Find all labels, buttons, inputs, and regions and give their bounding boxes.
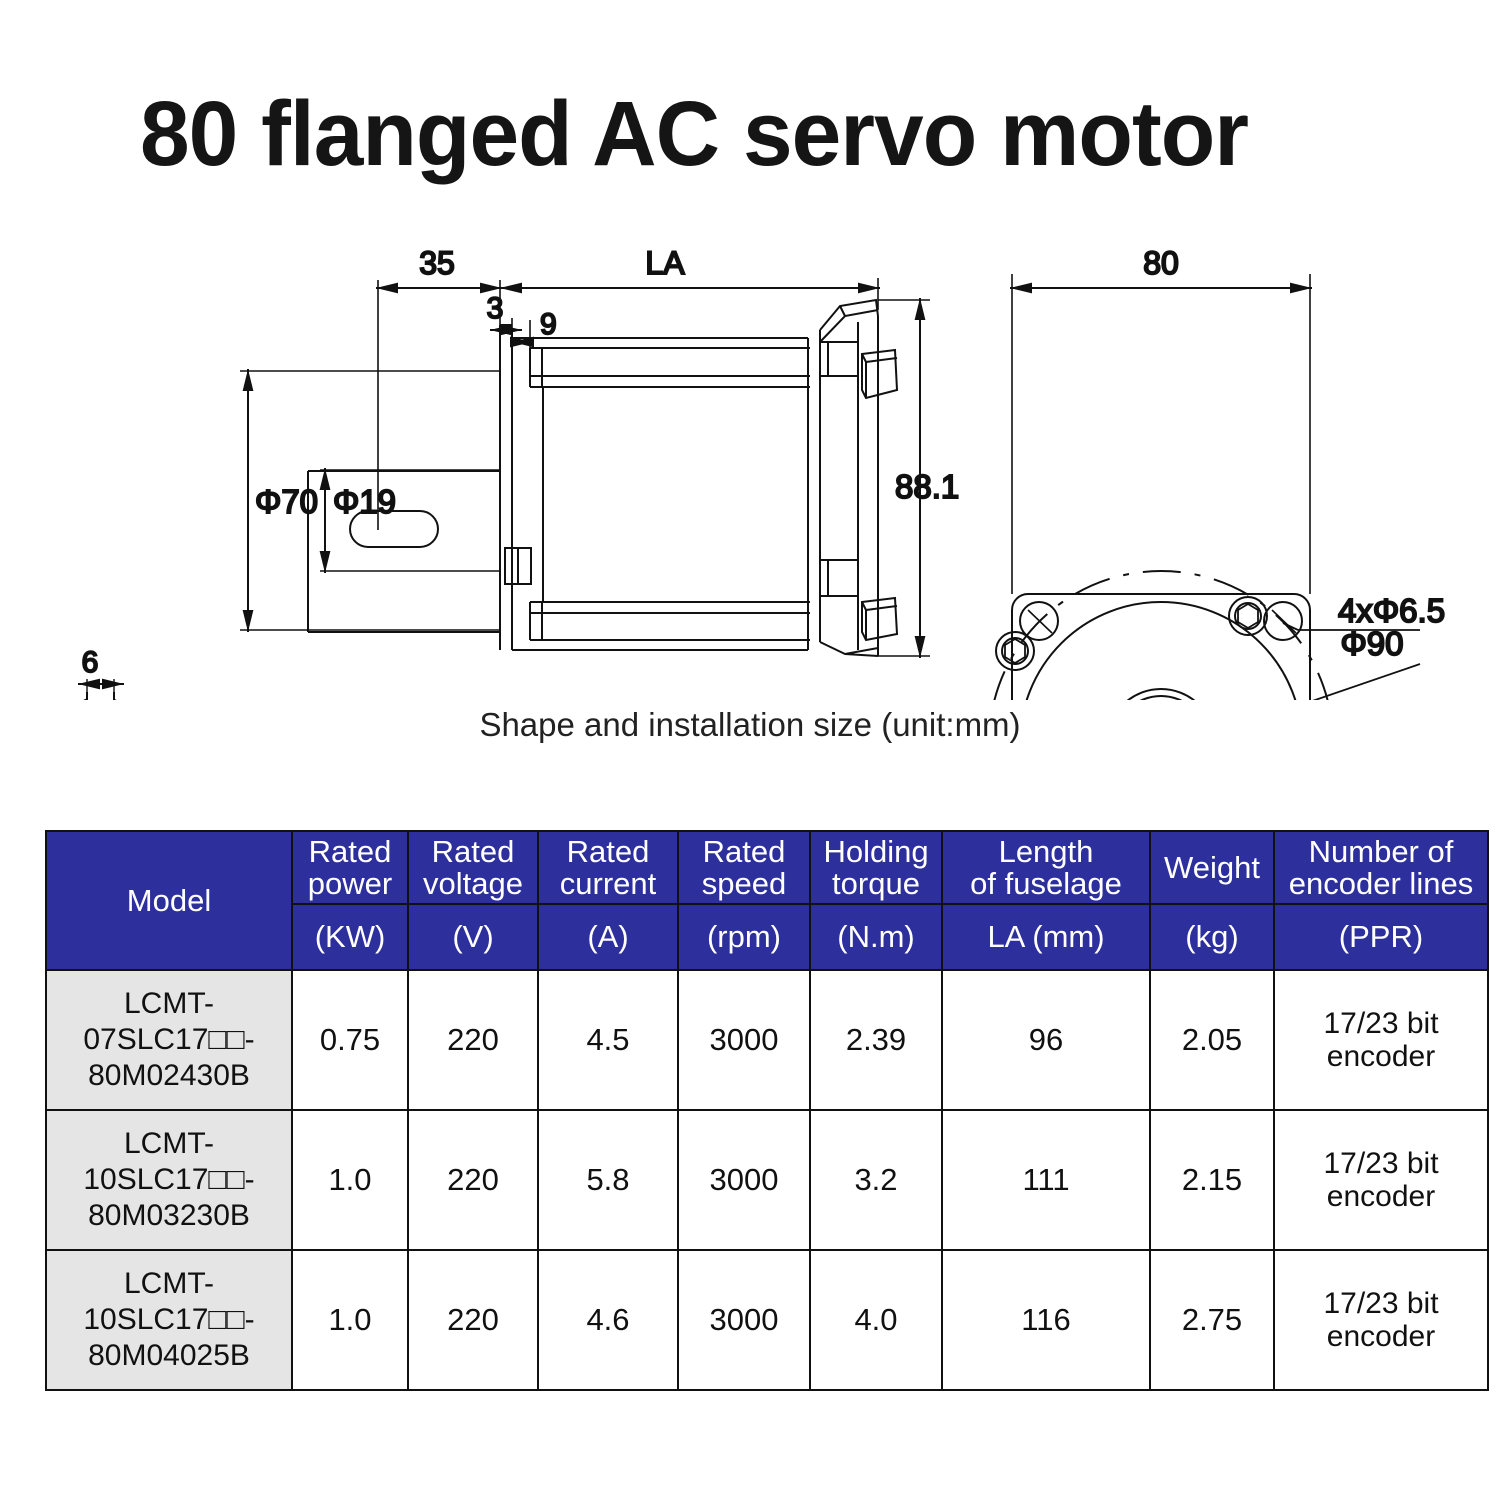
unit-rated-power: (KW): [292, 904, 408, 970]
model-line-1: LCMT-: [53, 986, 285, 1022]
header-line-1: Rated: [541, 836, 675, 868]
model-line-2: 10SLC17□□-: [53, 1302, 285, 1338]
model-line-3: 80M04025B: [53, 1338, 285, 1374]
cell-length-la: 111: [942, 1110, 1150, 1250]
cell-model: LCMT- 10SLC17□□- 80M03230B: [46, 1110, 292, 1250]
cell-rated-speed: 3000: [678, 1250, 810, 1390]
cell-rated-current: 4.5: [538, 970, 678, 1110]
header-line-1: Number of: [1277, 836, 1485, 868]
table-row: LCMT- 10SLC17□□- 80M04025B 1.0 220 4.6 3…: [46, 1250, 1488, 1390]
encoder-line-1: 17/23 bit: [1275, 1007, 1487, 1041]
model-line-1: LCMT-: [53, 1126, 285, 1162]
dim-label-la: LA: [645, 245, 685, 281]
column-header-holding-torque: Holding torque: [810, 831, 942, 904]
encoder-line-2: encoder: [1275, 1320, 1487, 1354]
cell-rated-voltage: 220: [408, 970, 538, 1110]
column-header-rated-power: Rated power: [292, 831, 408, 904]
dim-label-9: 9: [540, 308, 557, 341]
column-header-encoder-lines: Number of encoder lines: [1274, 831, 1488, 904]
model-line-3: 80M03230B: [53, 1198, 285, 1234]
model-line-1: LCMT-: [53, 1266, 285, 1302]
cell-length-la: 96: [942, 970, 1150, 1110]
unit-weight: (kg): [1150, 904, 1274, 970]
header-line-2: power: [295, 868, 405, 900]
model-line-2: 07SLC17□□-: [53, 1022, 285, 1058]
table-row: LCMT- 07SLC17□□- 80M02430B 0.75 220 4.5 …: [46, 970, 1488, 1110]
unit-rated-speed: (rpm): [678, 904, 810, 970]
encoder-line-1: 17/23 bit: [1275, 1287, 1487, 1321]
cell-rated-speed: 3000: [678, 1110, 810, 1250]
cell-weight: 2.75: [1150, 1250, 1274, 1390]
header-line-1: Holding: [813, 836, 939, 868]
dim-label-80: 80: [1143, 245, 1179, 281]
encoder-line-2: encoder: [1275, 1180, 1487, 1214]
header-line-2: voltage: [411, 868, 535, 900]
dim-label-4x-phi65: 4xΦ6.5: [1338, 592, 1445, 629]
cell-holding-torque: 2.39: [810, 970, 942, 1110]
cell-model: LCMT- 07SLC17□□- 80M02430B: [46, 970, 292, 1110]
cell-weight: 2.15: [1150, 1110, 1274, 1250]
unit-rated-current: (A): [538, 904, 678, 970]
page-title: 80 flanged AC servo motor: [140, 88, 1362, 180]
cell-weight: 2.05: [1150, 970, 1274, 1110]
unit-holding-torque: (N.m): [810, 904, 942, 970]
cell-holding-torque: 4.0: [810, 1250, 942, 1390]
specification-table: Model Rated power Rated voltage Rated cu…: [45, 830, 1489, 1391]
dim-label-phi90: Φ90: [1340, 625, 1403, 662]
dim-label-keyway-width: 6: [82, 646, 99, 679]
front-view: [989, 571, 1333, 700]
hex-socket-screws: [996, 597, 1284, 700]
unit-encoder-lines: (PPR): [1274, 904, 1488, 970]
cell-encoder: 17/23 bit encoder: [1274, 1110, 1488, 1250]
header-line-2: speed: [681, 868, 807, 900]
cell-rated-power: 1.0: [292, 1250, 408, 1390]
encoder-line-2: encoder: [1275, 1040, 1487, 1074]
cell-rated-current: 5.8: [538, 1110, 678, 1250]
dim-label-phi70: Φ70: [255, 483, 318, 520]
cell-encoder: 17/23 bit encoder: [1274, 970, 1488, 1110]
unit-rated-voltage: (V): [408, 904, 538, 970]
header-line-1: Rated: [681, 836, 807, 868]
table-row: LCMT- 10SLC17□□- 80M03230B 1.0 220 5.8 3…: [46, 1110, 1488, 1250]
column-header-length-of-fuselage: Length of fuselage: [942, 831, 1150, 904]
header-line-2: current: [541, 868, 675, 900]
technical-drawing: 6 15.5: [0, 230, 1500, 700]
cell-rated-voltage: 220: [408, 1110, 538, 1250]
cell-model: LCMT- 10SLC17□□- 80M04025B: [46, 1250, 292, 1390]
cell-rated-current: 4.6: [538, 1250, 678, 1390]
column-header-rated-speed: Rated speed: [678, 831, 810, 904]
header-line-2: of fuselage: [945, 868, 1147, 900]
model-line-3: 80M02430B: [53, 1058, 285, 1094]
cell-rated-speed: 3000: [678, 970, 810, 1110]
header-line-1: Length: [945, 836, 1147, 868]
cell-encoder: 17/23 bit encoder: [1274, 1250, 1488, 1390]
shaft-cross-section: [65, 692, 135, 700]
dim-label-3: 3: [487, 292, 504, 325]
header-line-1: Rated: [411, 836, 535, 868]
dim-label-phi19: Φ19: [333, 483, 396, 520]
model-line-2: 10SLC17□□-: [53, 1162, 285, 1198]
header-line-2: torque: [813, 868, 939, 900]
cell-length-la: 116: [942, 1250, 1150, 1390]
leader-phi90: [995, 664, 1420, 700]
drawing-caption: Shape and installation size (unit:mm): [0, 706, 1500, 744]
table-header-row-1: Model Rated power Rated voltage Rated cu…: [46, 831, 1488, 904]
header-line-1: Rated: [295, 836, 405, 868]
cell-holding-torque: 3.2: [810, 1110, 942, 1250]
header-line-1: Weight: [1153, 852, 1271, 884]
dim-label-35: 35: [419, 245, 455, 281]
dim-80: [1010, 274, 1312, 594]
unit-length-of-fuselage: LA (mm): [942, 904, 1150, 970]
cell-rated-voltage: 220: [408, 1250, 538, 1390]
column-header-rated-voltage: Rated voltage: [408, 831, 538, 904]
column-header-model: Model: [46, 831, 292, 970]
dim-label-88-1: 88.1: [895, 468, 959, 505]
header-line-2: encoder lines: [1277, 868, 1485, 900]
column-header-weight: Weight: [1150, 831, 1274, 904]
column-header-rated-current: Rated current: [538, 831, 678, 904]
encoder-line-1: 17/23 bit: [1275, 1147, 1487, 1181]
side-elevation: [308, 300, 897, 656]
cell-rated-power: 1.0: [292, 1110, 408, 1250]
dim-35-la: [376, 278, 880, 530]
cell-rated-power: 0.75: [292, 970, 408, 1110]
